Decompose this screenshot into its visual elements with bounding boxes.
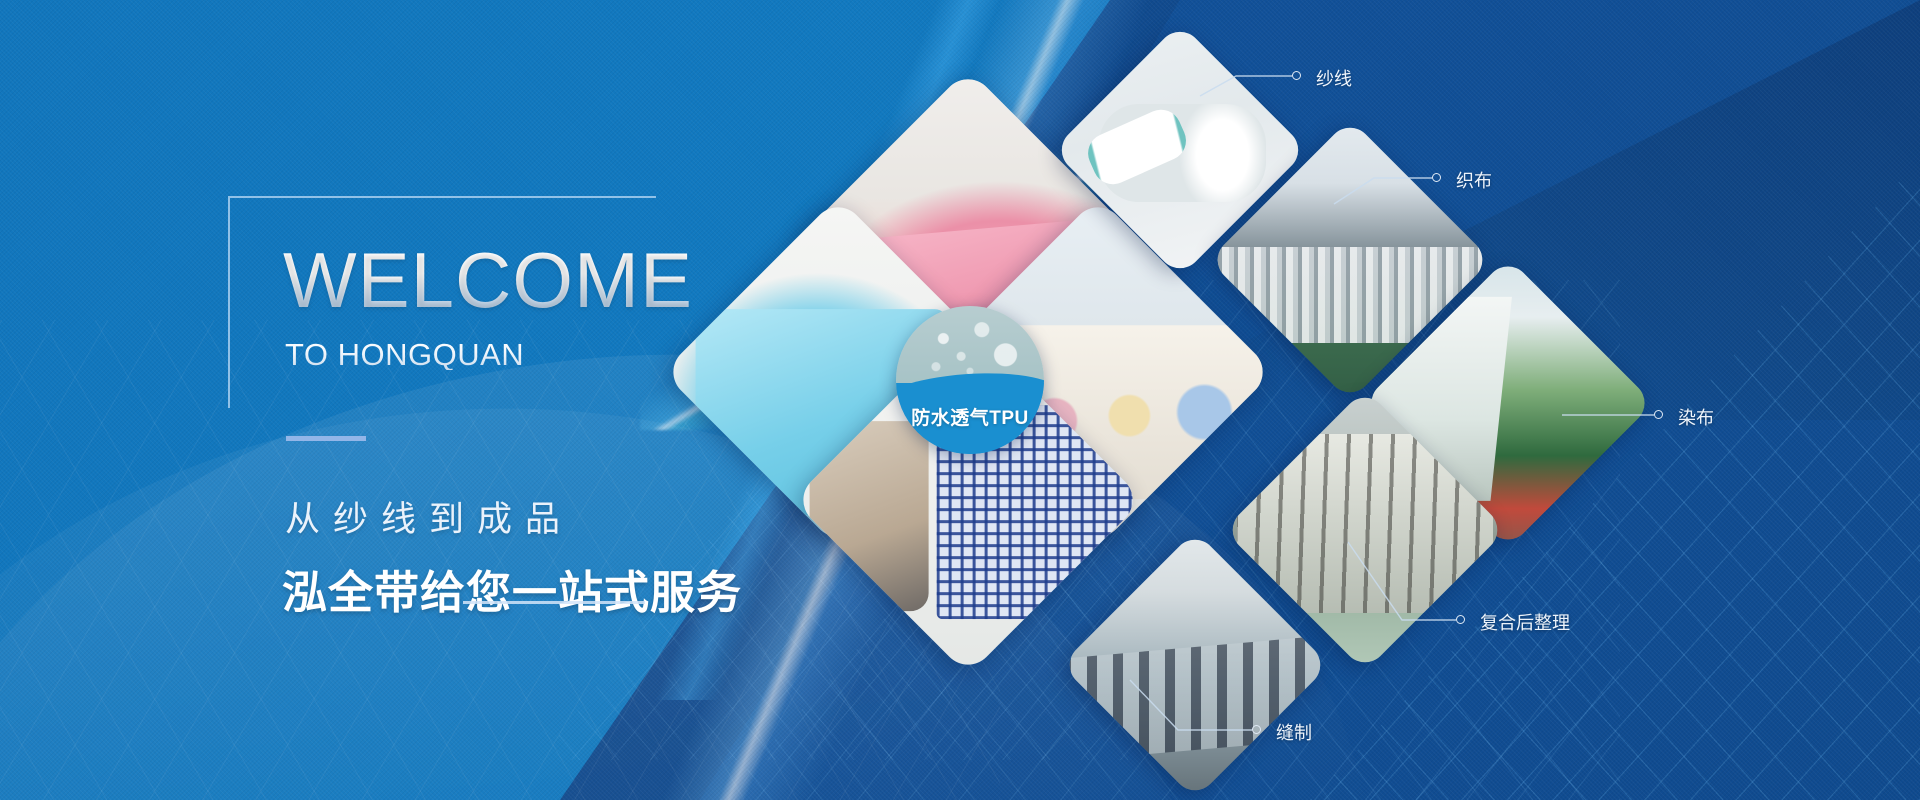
callout-dot-icon — [1456, 615, 1465, 624]
hero-banner: WELCOME TO HONGQUAN 从纱线到成品 泓全带给您一站式服务 防水… — [0, 0, 1920, 800]
callout-sewing[interactable]: 缝制 — [1220, 710, 1440, 750]
headline-cn: 泓全带给您一站式服务 — [282, 556, 742, 621]
callout-label-sewing: 缝制 — [1276, 719, 1312, 745]
tagline-cn: 从纱线到成品 — [285, 491, 573, 542]
callout-label-weaving: 织布 — [1456, 167, 1492, 193]
bottom-accent-rule — [463, 601, 645, 604]
page-title: WELCOME — [283, 241, 693, 319]
callout-dyeing[interactable]: 染布 — [1600, 395, 1820, 435]
callout-dot-icon — [1252, 725, 1261, 734]
callout-label-yarn: 纱线 — [1316, 65, 1352, 91]
accent-rule — [286, 436, 366, 441]
center-badge[interactable]: 防水透气TPU — [896, 306, 1044, 454]
center-badge-label: 防水透气TPU — [896, 403, 1044, 430]
callout-yarn[interactable]: 纱线 — [1230, 60, 1430, 100]
callout-weaving[interactable]: 织布 — [1370, 160, 1570, 200]
callout-dot-icon — [1292, 71, 1301, 80]
callout-dot-icon — [1654, 410, 1663, 419]
callout-label-laminating: 复合后整理 — [1480, 609, 1570, 635]
callout-dot-icon — [1432, 173, 1441, 182]
page-subtitle: TO HONGQUAN — [285, 339, 524, 370]
callout-label-dyeing: 染布 — [1678, 404, 1714, 430]
callout-laminating[interactable]: 复合后整理 — [1420, 600, 1670, 640]
